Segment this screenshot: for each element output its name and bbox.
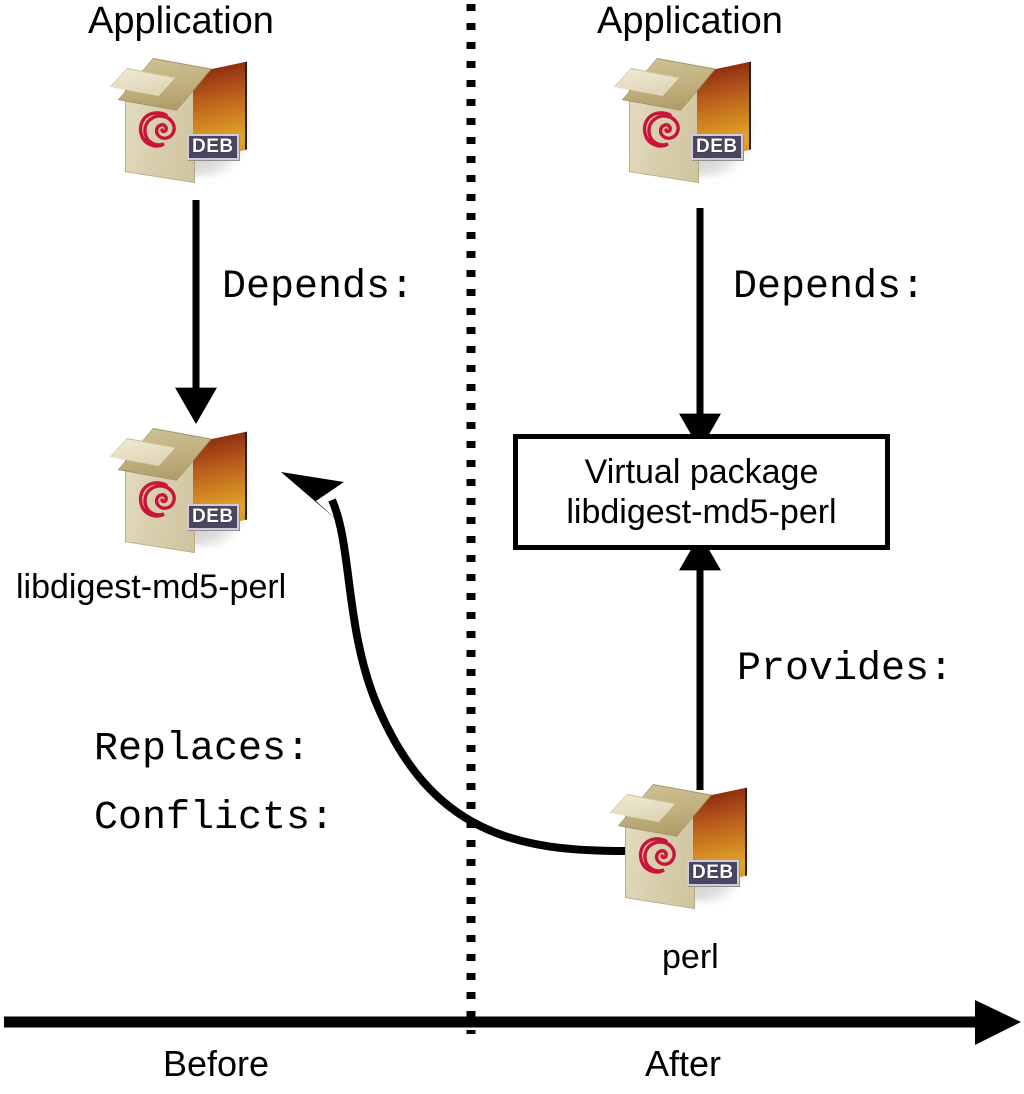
replaces-label: Replaces: bbox=[94, 730, 310, 770]
deb-badge: DEB bbox=[187, 504, 239, 530]
diagram-canvas: Application DEB Depends: DEB libdigest-m… bbox=[0, 0, 1024, 1094]
debian-swirl-icon bbox=[633, 830, 681, 880]
deb-badge: DEB bbox=[687, 860, 739, 886]
after-application-package-icon: DEB bbox=[623, 52, 773, 182]
debian-swirl-icon bbox=[133, 474, 181, 524]
after-application-title: Application bbox=[597, 2, 783, 40]
deb-badge: DEB bbox=[187, 134, 239, 160]
before-depends-label: Depends: bbox=[222, 268, 414, 308]
timeline-before-label: Before bbox=[163, 1046, 269, 1082]
virtual-package-box: Virtual package libdigest-md5-perl bbox=[513, 434, 890, 550]
replaces-conflicts-curve bbox=[332, 500, 626, 851]
before-libdigest-package-label: libdigest-md5-perl bbox=[16, 570, 286, 604]
after-depends-label: Depends: bbox=[733, 268, 925, 308]
provides-label: Provides: bbox=[737, 650, 953, 690]
timeline-after-label: After bbox=[645, 1046, 721, 1082]
debian-swirl-icon bbox=[133, 104, 181, 154]
deb-badge: DEB bbox=[691, 134, 743, 160]
before-libdigest-package-icon: DEB bbox=[119, 422, 269, 552]
after-perl-package-label: perl bbox=[662, 940, 719, 974]
before-application-package-icon: DEB bbox=[119, 52, 269, 182]
replaces-conflicts-arrowhead bbox=[281, 472, 344, 521]
virtual-package-box-line1: Virtual package bbox=[585, 455, 819, 489]
debian-swirl-icon bbox=[637, 104, 685, 154]
virtual-package-box-line2: libdigest-md5-perl bbox=[566, 495, 836, 529]
conflicts-label: Conflicts: bbox=[94, 799, 334, 839]
before-application-title: Application bbox=[88, 2, 274, 40]
after-perl-package-icon: DEB bbox=[619, 778, 769, 908]
timeline-axis-arrowhead bbox=[975, 1000, 1021, 1045]
